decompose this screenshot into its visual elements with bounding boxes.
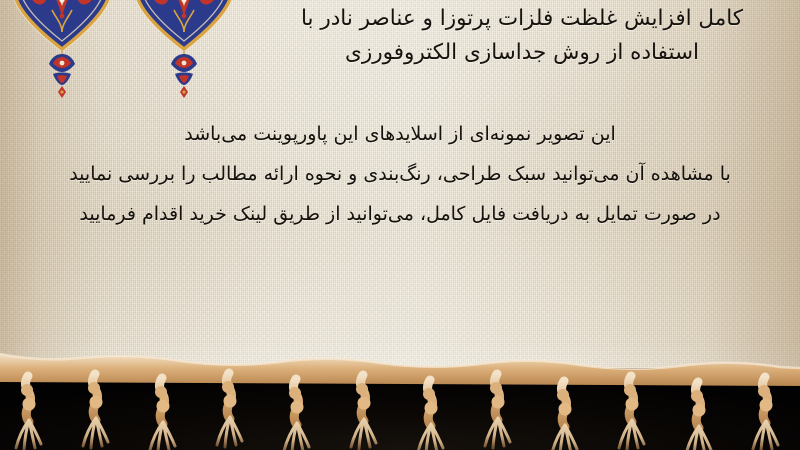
slide-title: کامل افزایش غلظت فلزات پرتوزا و عناصر نا… bbox=[252, 2, 792, 70]
body-line-3: در صورت تمایل به دریافت فایل کامل، می‌تو… bbox=[8, 194, 792, 234]
carpet-tassel-fringe bbox=[0, 352, 800, 450]
fringe-selvedge bbox=[0, 354, 800, 386]
body-line-1: این تصویر نمونه‌ای از اسلایدهای این پاور… bbox=[8, 114, 792, 154]
ornament-group bbox=[0, 0, 260, 110]
slide-body: این تصویر نمونه‌ای از اسلایدهای این پاور… bbox=[8, 114, 792, 234]
persian-medallion-ornament bbox=[130, 0, 238, 116]
title-line-1: کامل افزایش غلظت فلزات پرتوزا و عناصر نا… bbox=[252, 2, 792, 36]
title-line-2: استفاده از روش جداسازی الکتروفورزی bbox=[252, 36, 792, 70]
presentation-slide: کامل افزایش غلظت فلزات پرتوزا و عناصر نا… bbox=[0, 0, 800, 450]
persian-medallion-ornament bbox=[8, 0, 116, 116]
body-line-2: با مشاهده آن می‌توانید سبک طراحی، رنگ‌بن… bbox=[8, 154, 792, 194]
